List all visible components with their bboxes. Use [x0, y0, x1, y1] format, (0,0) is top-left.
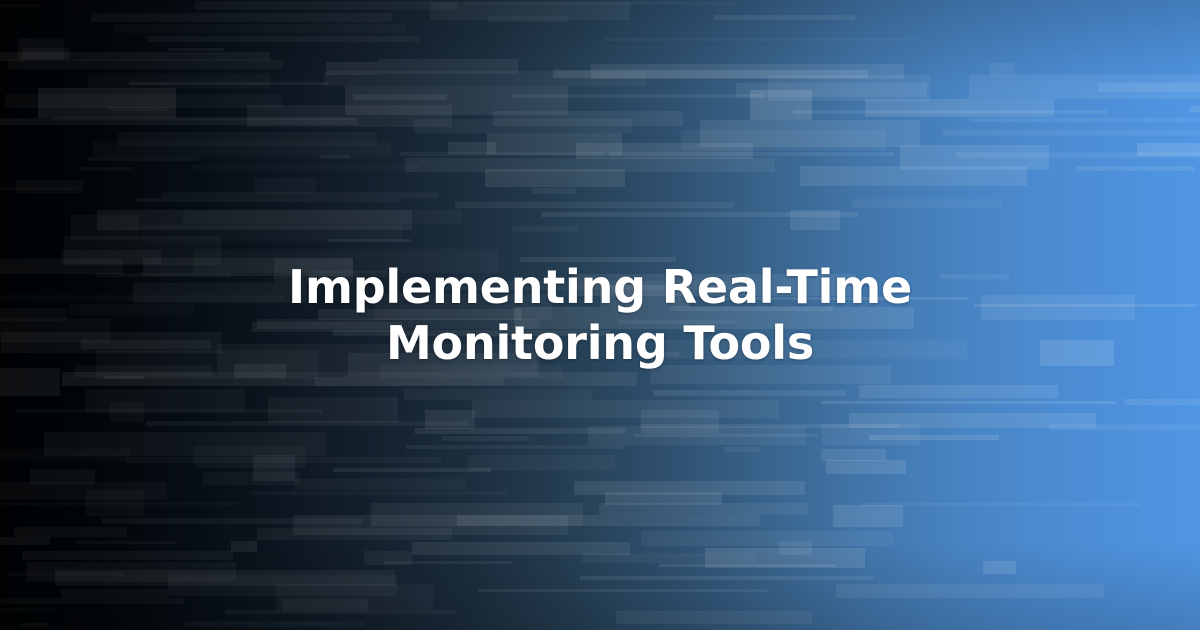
title-block: Implementing Real-Time Monitoring Tools	[0, 0, 1200, 630]
banner-card: Implementing Real-Time Monitoring Tools	[0, 0, 1200, 630]
page-title: Implementing Real-Time Monitoring Tools	[150, 259, 1050, 371]
